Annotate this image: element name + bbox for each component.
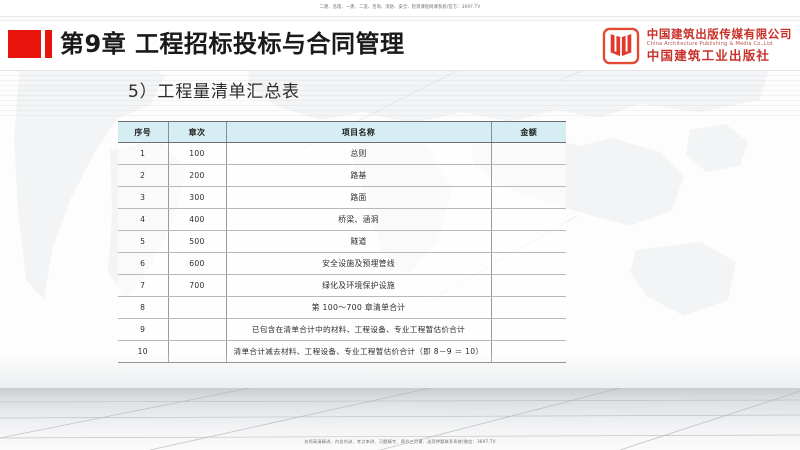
table-row: 3300路面 <box>118 187 566 209</box>
publisher-logo: 中国建筑出版传媒有限公司 China Architecture Publishi… <box>602 25 792 67</box>
quantity-summary-table: 序号 章次 项目名称 金额 1100总则2200路基3300路面4400桥梁、涵… <box>118 121 566 363</box>
table-body: 1100总则2200路基3300路面4400桥梁、涵洞5500隧道6600安全设… <box>118 143 566 363</box>
cell-amount <box>491 209 566 231</box>
col-header-chapter: 章次 <box>168 122 226 143</box>
table-header-row: 序号 章次 项目名称 金额 <box>118 122 566 143</box>
cell-amount <box>491 253 566 275</box>
cell-amount <box>491 275 566 297</box>
cell-no: 9 <box>118 319 168 341</box>
floor-upper-fade <box>0 352 800 388</box>
cell-chapter: 300 <box>168 187 226 209</box>
cell-amount <box>491 231 566 253</box>
page-title: 第9章 工程招标投标与合同管理 <box>60 29 405 59</box>
cell-chapter: 500 <box>168 231 226 253</box>
cell-no: 3 <box>118 187 168 209</box>
cell-chapter <box>168 297 226 319</box>
table-row: 5500隧道 <box>118 231 566 253</box>
cell-chapter: 200 <box>168 165 226 187</box>
red-accent-bar <box>45 30 52 58</box>
publisher-company-en: China Architecture Publishing & Media Co… <box>647 42 792 47</box>
cell-chapter: 700 <box>168 275 226 297</box>
cell-name: 桥梁、涵洞 <box>226 209 491 231</box>
table-row: 2200路基 <box>118 165 566 187</box>
publisher-logo-text: 中国建筑出版传媒有限公司 China Architecture Publishi… <box>647 29 792 62</box>
quantity-summary-table-wrap: 序号 章次 项目名称 金额 1100总则2200路基3300路面4400桥梁、涵… <box>118 121 566 363</box>
cell-no: 2 <box>118 165 168 187</box>
cell-amount <box>491 143 566 165</box>
top-micro-banner-text: 二建、监理、一建、二造、咨询、消防、安全、检测课程网课系统/官方：3697.TV <box>0 3 800 11</box>
cell-amount <box>491 187 566 209</box>
cell-name: 已包含在清单合计中的材料、工程设备、专业工程暂估价合计 <box>226 319 491 341</box>
slide-canvas: 二建、监理、一建、二造、咨询、消防、安全、检测课程网课系统/官方：3697.TV… <box>0 0 800 450</box>
cell-no: 7 <box>118 275 168 297</box>
cell-no: 6 <box>118 253 168 275</box>
cell-name: 路基 <box>226 165 491 187</box>
table-row: 7700绿化及环境保护设施 <box>118 275 566 297</box>
cell-name: 路面 <box>226 187 491 209</box>
cell-no: 1 <box>118 143 168 165</box>
cell-amount <box>491 319 566 341</box>
table-row: 6600安全设施及预埋管线 <box>118 253 566 275</box>
cell-chapter: 400 <box>168 209 226 231</box>
cell-chapter <box>168 319 226 341</box>
cell-name: 绿化及环境保护设施 <box>226 275 491 297</box>
cell-amount <box>491 165 566 187</box>
bottom-micro-banner-text: 名师高清精讲、内含内训、考点串讲、习题精专、章节三页课、送资押题联系系统/微信：… <box>0 438 800 446</box>
cell-chapter: 100 <box>168 143 226 165</box>
table-row: 4400桥梁、涵洞 <box>118 209 566 231</box>
publisher-company-cn: 中国建筑出版传媒有限公司 <box>647 29 792 41</box>
open-book-logo-icon <box>602 27 640 65</box>
cell-name: 隧道 <box>226 231 491 253</box>
publisher-press-cn: 中国建筑工业出版社 <box>647 50 792 63</box>
cell-name: 第 100～700 章清单合计 <box>226 297 491 319</box>
cell-no: 4 <box>118 209 168 231</box>
cell-amount <box>491 297 566 319</box>
header-bottom-rule <box>0 70 800 71</box>
cell-chapter: 600 <box>168 253 226 275</box>
cell-no: 8 <box>118 297 168 319</box>
table-row: 1100总则 <box>118 143 566 165</box>
table-row: 8第 100～700 章清单合计 <box>118 297 566 319</box>
table-row: 9已包含在清单合计中的材料、工程设备、专业工程暂估价合计 <box>118 319 566 341</box>
cell-name: 安全设施及预埋管线 <box>226 253 491 275</box>
cell-no: 5 <box>118 231 168 253</box>
red-accent-block <box>8 30 41 58</box>
section-title: 5）工程量清单汇总表 <box>128 80 300 104</box>
col-header-name: 项目名称 <box>226 122 491 143</box>
col-header-no: 序号 <box>118 122 168 143</box>
header-top-rule <box>0 20 800 21</box>
col-header-amount: 金额 <box>491 122 566 143</box>
cell-name: 总则 <box>226 143 491 165</box>
